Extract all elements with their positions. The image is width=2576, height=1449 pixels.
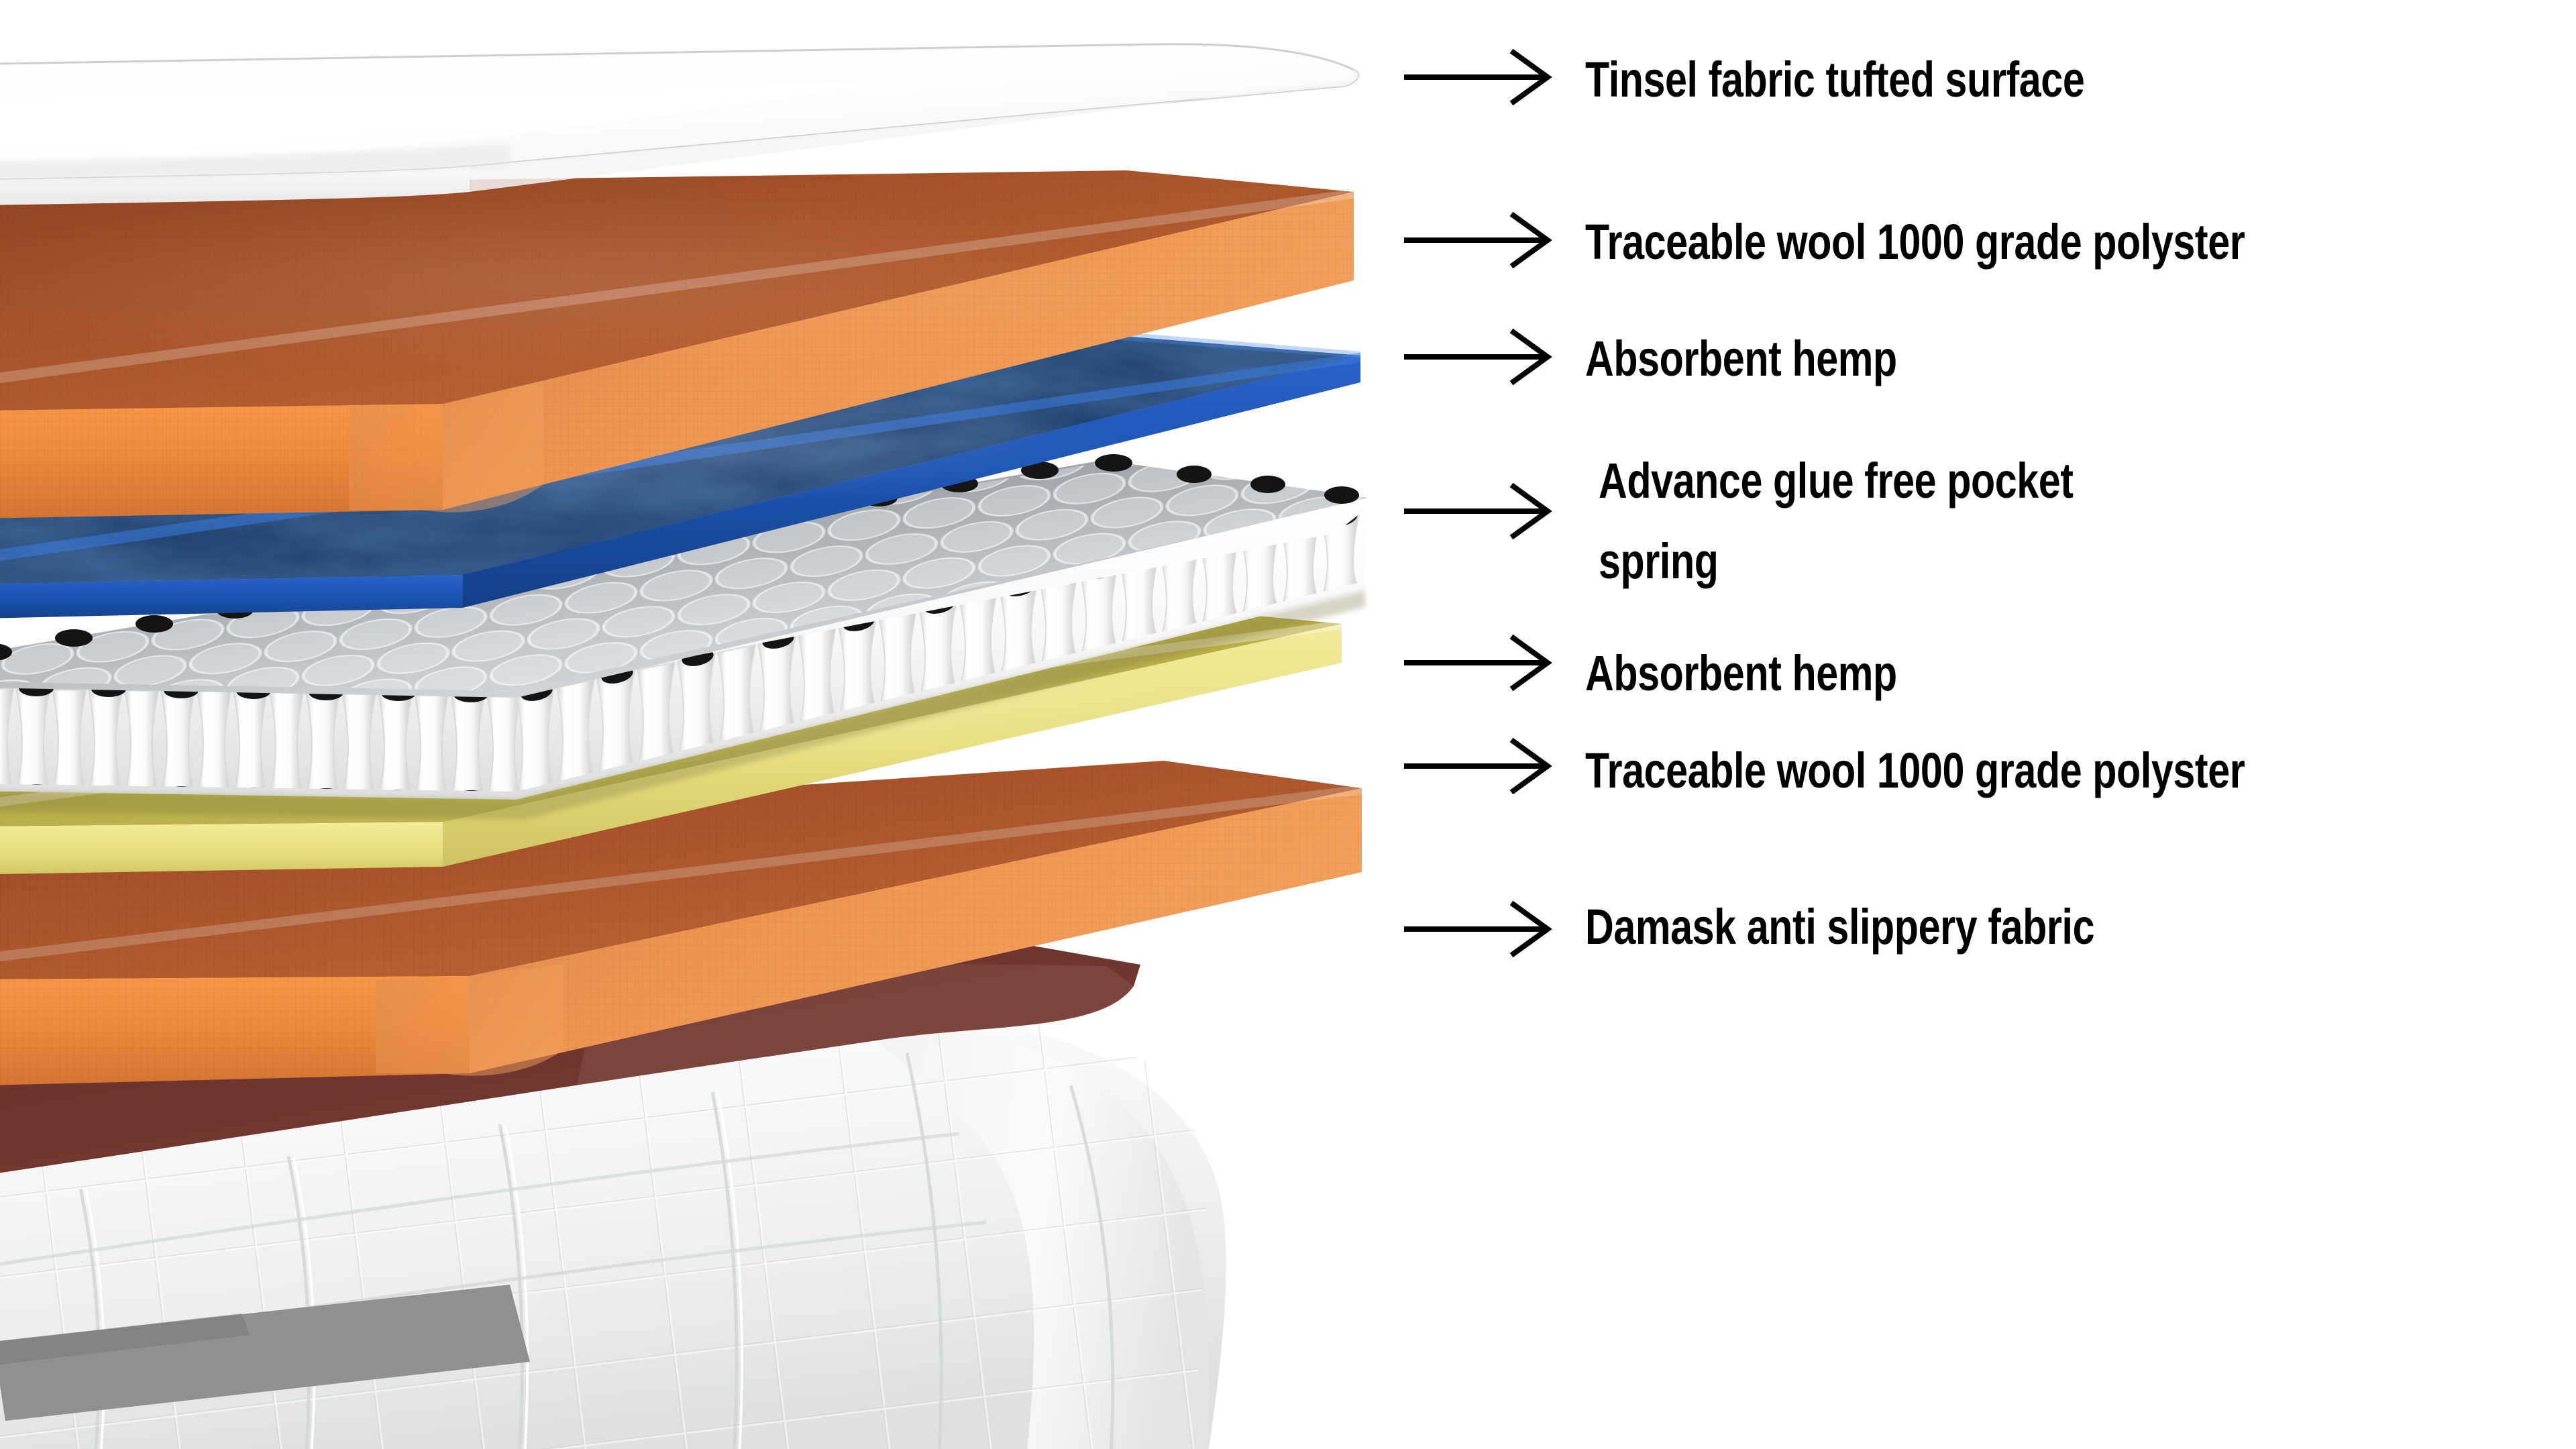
mattress-layer-diagram: Tinsel fabric tufted surface Traceable w…: [0, 0, 2576, 1449]
arrow-icon-7: [0, 0, 2576, 1449]
callout-label-7: Damask anti slippery fabric: [1585, 894, 2094, 960]
callout-layer: Tinsel fabric tufted surface Traceable w…: [0, 0, 2576, 1449]
